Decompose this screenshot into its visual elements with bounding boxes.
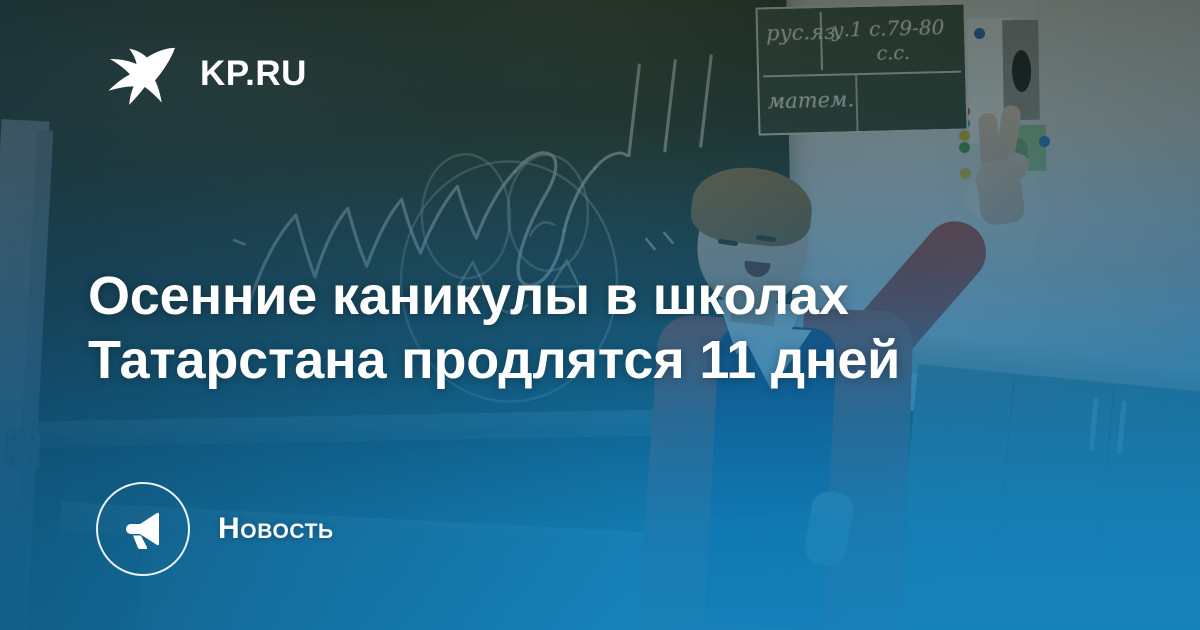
brand-logo[interactable]: KP.RU [104, 32, 307, 114]
card-content: KP.RU Осенние каникулы в школах Татарста… [0, 0, 1200, 630]
page-title: Осенние каникулы в школах Татарстана про… [88, 264, 988, 393]
brand-logo-text: KP.RU [200, 56, 307, 91]
swallow-bird-icon [104, 36, 178, 110]
status-badge[interactable]: Новость [96, 482, 334, 576]
badge-icon-circle [96, 482, 190, 576]
social-share-card: рус.яз. у.1 с.79-80 с.с. матем. [0, 0, 1200, 630]
megaphone-icon [121, 507, 165, 551]
status-badge-label: Новость [218, 512, 334, 546]
